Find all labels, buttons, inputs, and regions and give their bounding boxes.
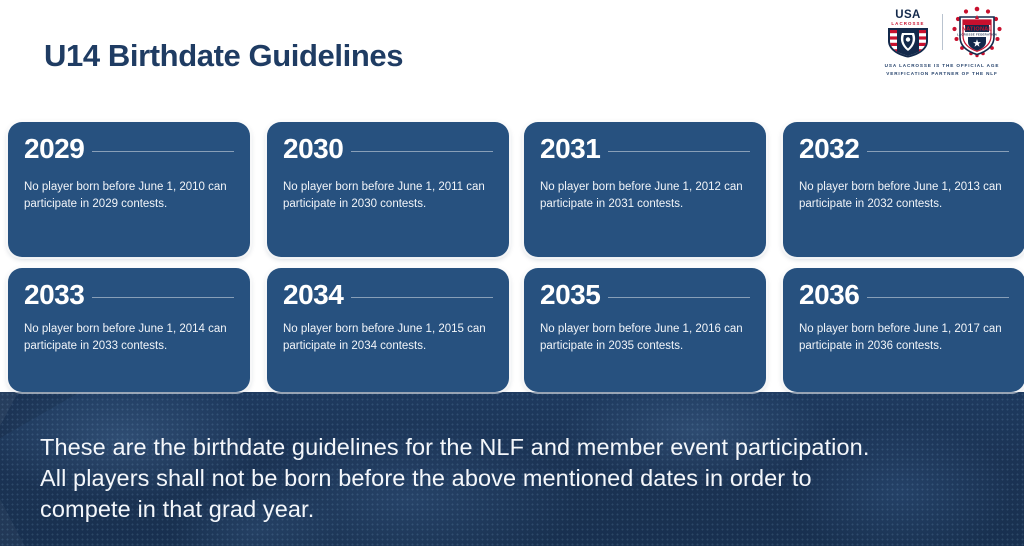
card-body: No player born before June 1, 2016 can p…	[540, 321, 750, 355]
year-card-2034: 2034 No player born before June 1, 2015 …	[267, 268, 509, 392]
svg-text:LACROSSE: LACROSSE	[891, 21, 924, 26]
card-year: 2036	[799, 280, 859, 309]
card-rule	[92, 151, 234, 152]
card-rule	[867, 297, 1009, 298]
card-body: No player born before June 1, 2012 can p…	[540, 179, 750, 213]
nlf-logo: NATIONAL LACROSSE FEDERATION	[949, 5, 1005, 59]
usa-lacrosse-logo: USA LACROSSE	[880, 5, 936, 59]
year-card-2036: 2036 No player born before June 1, 2017 …	[783, 268, 1024, 392]
card-rule	[92, 297, 234, 298]
year-card-2035: 2035 No player born before June 1, 2016 …	[524, 268, 766, 392]
card-year: 2035	[540, 280, 600, 309]
card-body: No player born before June 1, 2014 can p…	[24, 321, 234, 355]
card-body: No player born before June 1, 2011 can p…	[283, 179, 493, 213]
card-body: No player born before June 1, 2017 can p…	[799, 321, 1009, 355]
card-head: 2031	[540, 134, 750, 163]
card-year: 2032	[799, 134, 859, 163]
page-title: U14 Birthdate Guidelines	[44, 38, 403, 74]
logo-block: USA LACROSSE	[872, 4, 1012, 78]
card-body: No player born before June 1, 2013 can p…	[799, 179, 1009, 213]
footer-note: These are the birthdate guidelines for t…	[40, 432, 870, 525]
card-body: No player born before June 1, 2010 can p…	[24, 179, 234, 213]
card-head: 2029	[24, 134, 234, 163]
card-rule	[351, 297, 493, 298]
year-card-2032: 2032 No player born before June 1, 2013 …	[783, 122, 1024, 257]
card-year: 2034	[283, 280, 343, 309]
card-rule	[351, 151, 493, 152]
card-rule	[608, 297, 750, 298]
card-rule	[867, 151, 1009, 152]
card-head: 2034	[283, 280, 493, 309]
svg-text:USA: USA	[895, 9, 920, 21]
year-card-2029: 2029 No player born before June 1, 2010 …	[8, 122, 250, 257]
card-head: 2035	[540, 280, 750, 309]
card-year: 2033	[24, 280, 84, 309]
logo-divider	[942, 14, 943, 50]
logo-row: USA LACROSSE	[872, 4, 1012, 60]
card-year: 2031	[540, 134, 600, 163]
card-head: 2036	[799, 280, 1009, 309]
year-card-2030: 2030 No player born before June 1, 2011 …	[267, 122, 509, 257]
card-head: 2030	[283, 134, 493, 163]
card-year: 2030	[283, 134, 343, 163]
card-body: No player born before June 1, 2015 can p…	[283, 321, 493, 355]
card-rule	[608, 151, 750, 152]
card-head: 2033	[24, 280, 234, 309]
svg-text:LACROSSE FEDERATION: LACROSSE FEDERATION	[957, 32, 997, 36]
card-year: 2029	[24, 134, 84, 163]
year-card-2033: 2033 No player born before June 1, 2014 …	[8, 268, 250, 392]
card-head: 2032	[799, 134, 1009, 163]
year-card-2031: 2031 No player born before June 1, 2012 …	[524, 122, 766, 257]
partner-text: USA LACROSSE IS THE OFFICIAL AGE VERIFIC…	[872, 62, 1012, 78]
